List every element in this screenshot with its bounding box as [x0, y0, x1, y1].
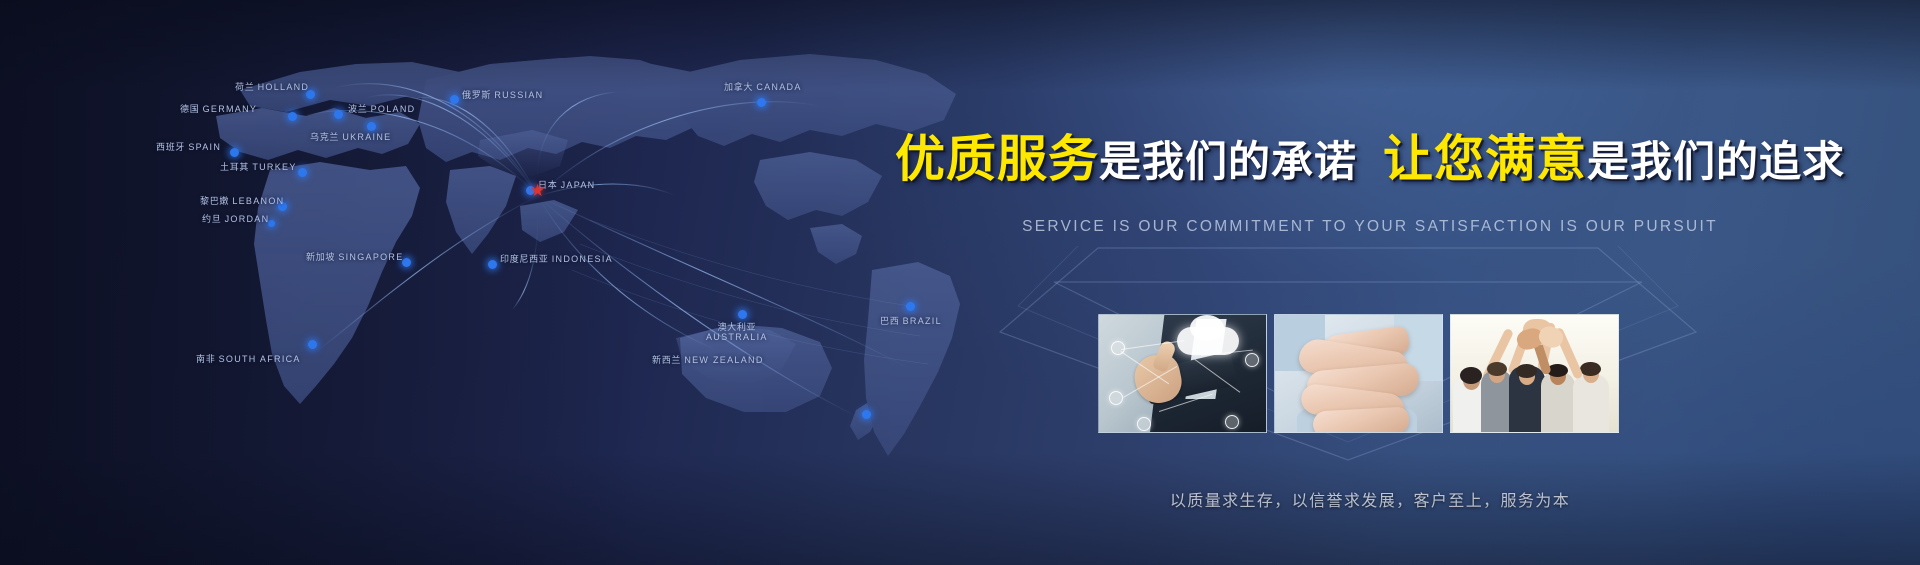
background-vignette [0, 0, 1920, 565]
service-promise-banner: 荷兰 HOLLAND 德国 GERMANY 波兰 POLAND 乌克兰 UKRA… [0, 0, 1920, 565]
